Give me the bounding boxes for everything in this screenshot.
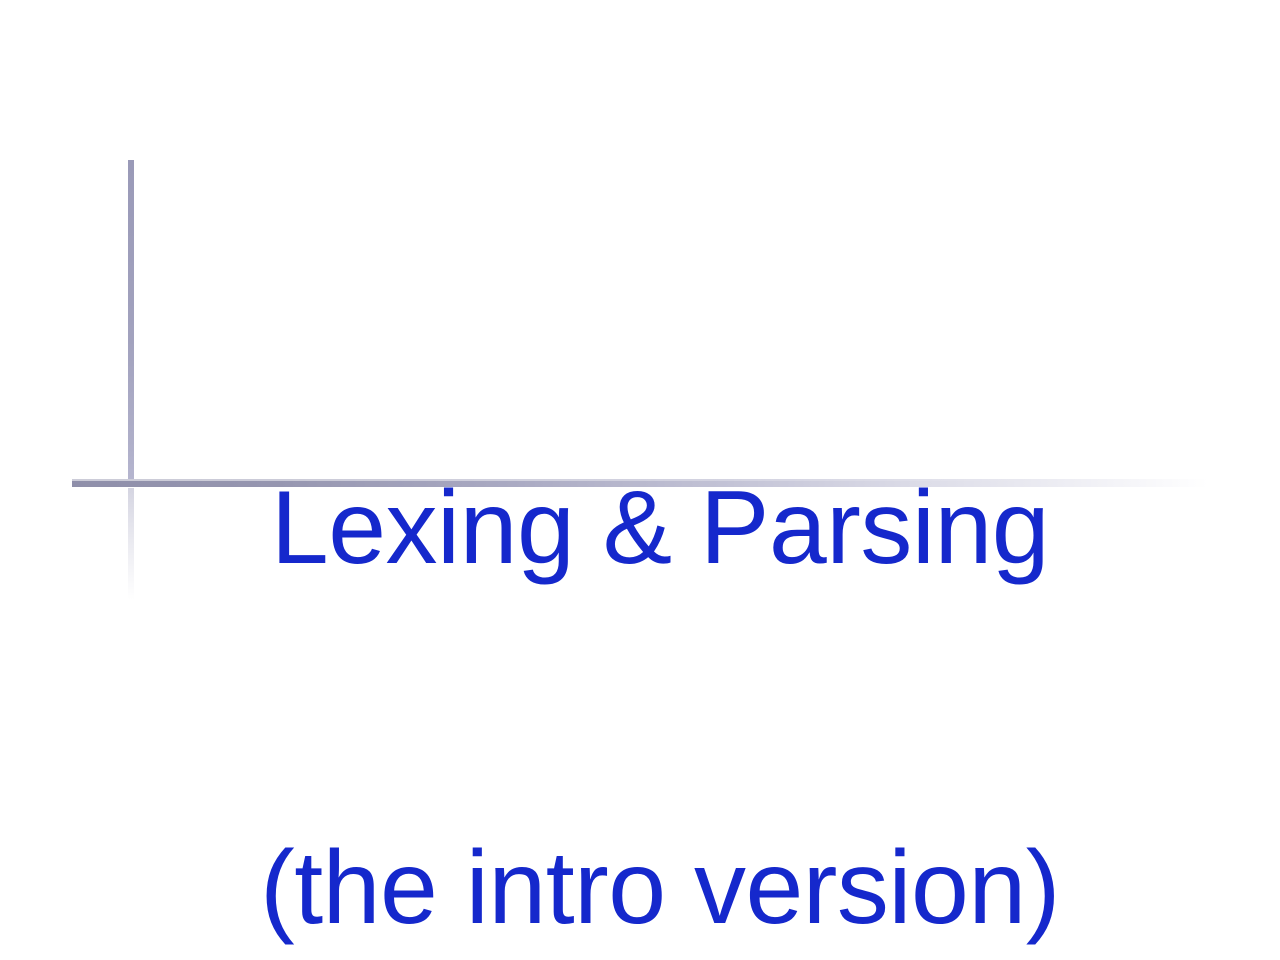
slide-title-line-2: (the intro version) xyxy=(160,828,1160,948)
slide-title-line-1: Lexing & Parsing xyxy=(160,468,1160,588)
vertical-accent-rule-reflection xyxy=(128,488,134,600)
vertical-accent-rule xyxy=(128,160,134,485)
slide-title: Lexing & Parsing (the intro version) xyxy=(160,228,1160,960)
slide-canvas: Lexing & Parsing (the intro version) xyxy=(0,0,1280,960)
